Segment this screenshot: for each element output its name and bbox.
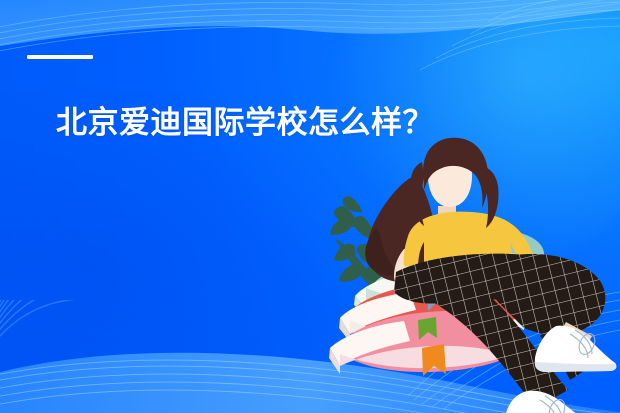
figure-shoe-front: [505, 391, 591, 413]
promo-banner: 北京爱迪国际学校怎么样？: [0, 0, 620, 413]
page-title: 北京爱迪国际学校怎么样？: [56, 103, 434, 143]
illustration-woman-on-books: [0, 0, 620, 413]
divider-rule: [27, 55, 93, 59]
